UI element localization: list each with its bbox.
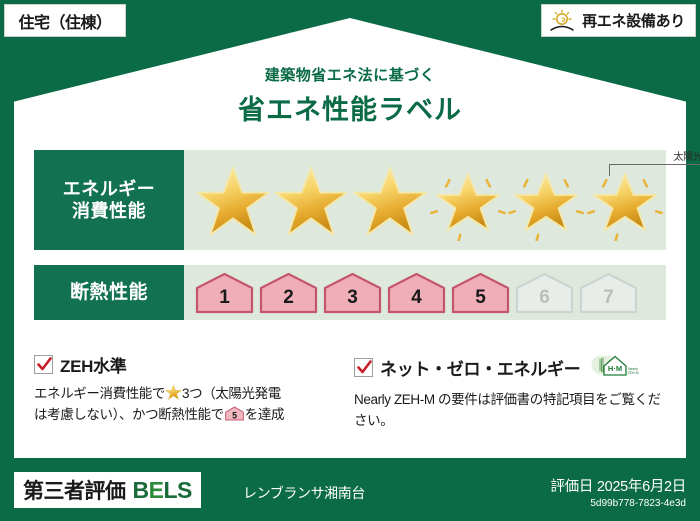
bels-energy-label: 住宅（住棟） 再エネ設備あり 建築物省エネ法に基づく 省エネ性能ラベル — [0, 0, 700, 521]
title-subtitle: 建築物省エネ法に基づく — [0, 64, 700, 85]
svg-text:ZEH-M: ZEH-M — [628, 371, 639, 375]
building-name: レンブランサ湘南台 — [243, 483, 365, 503]
insulation-performance-body: 1234567 — [184, 265, 666, 320]
criteria-section: ZEH水準 エネルギー消費性能で3つ（太陽光発電は考慮しない）、かつ断熱性能で5… — [34, 352, 674, 447]
inline-star-icon — [165, 384, 182, 401]
nze-checkbox[interactable] — [354, 358, 373, 377]
bels-letter-b: B — [133, 477, 149, 503]
check-icon — [356, 359, 373, 376]
renewable-energy-badge: 再エネ設備あり — [541, 4, 696, 37]
svg-text:Nearly: Nearly — [628, 367, 638, 371]
insulation-level-1: 1 — [194, 271, 255, 315]
evaluation-date: 評価日 2025年6月2日 — [550, 475, 686, 496]
star-3 — [351, 157, 427, 243]
document-id: 5d99b778-7823-4e3d — [550, 498, 686, 509]
insulation-level-3: 3 — [322, 271, 383, 315]
renewable-badge-label: 再エネ設備あり — [582, 10, 685, 31]
star-2 — [272, 157, 348, 243]
zeh-criteria-header: ZEH水準 — [34, 352, 342, 377]
star-5-solar — [507, 157, 583, 243]
bels-badge: 第三者評価 BELS — [14, 472, 201, 508]
building-type-label: 住宅（住棟） — [18, 9, 111, 33]
solar-bracket — [609, 164, 700, 176]
inline-house-icon: 5 — [224, 406, 245, 421]
star-4-solar — [429, 157, 505, 243]
energy-label-line1: エネルギー — [63, 178, 156, 201]
insulation-performance-row: 断熱性能 1234567 — [34, 265, 666, 320]
zeh-description: エネルギー消費性能で3つ（太陽光発電は考慮しない）、かつ断熱性能で5を達成 — [34, 384, 342, 426]
insulation-performance-label: 断熱性能 — [34, 265, 184, 320]
insulation-level-2: 2 — [258, 271, 319, 315]
label-footer: 第三者評価 BELS レンブランサ湘南台 評価日 2025年6月2日 5d99b… — [0, 459, 700, 521]
zeh-checkbox[interactable] — [34, 355, 53, 374]
insulation-level-number: 7 — [578, 287, 639, 309]
svg-text:H·M: H·M — [608, 364, 622, 373]
energy-label-line2: 消費性能 — [72, 200, 146, 223]
sun-icon — [548, 9, 576, 33]
check-icon — [36, 356, 53, 373]
insulation-level-number: 4 — [386, 287, 447, 309]
bels-logo: BELS — [133, 477, 192, 504]
nze-description: Nearly ZEH-M の要件は評価書の特記項目をご覧ください。 — [354, 390, 662, 432]
svg-text:5: 5 — [232, 410, 237, 420]
bels-letter-s: S — [177, 477, 192, 503]
insulation-level-4: 4 — [386, 271, 447, 315]
zeh-body-2: 3つ（太陽光発電 — [182, 386, 281, 401]
insulation-level-number: 6 — [514, 287, 575, 309]
zeh-body-4: を達成 — [245, 407, 284, 422]
energy-performance-label: エネルギー 消費性能 — [34, 150, 184, 250]
bels-letter-l: L — [163, 477, 177, 503]
star-rating — [190, 150, 662, 250]
insulation-level-6: 6 — [514, 271, 575, 315]
energy-performance-row: エネルギー 消費性能 太陽光発電(自家消費)分 — [34, 150, 666, 250]
insulation-label-text: 断熱性能 — [70, 281, 148, 305]
nze-title: ネット・ゼロ・エネルギー — [380, 355, 580, 380]
zeh-title: ZEH水準 — [60, 352, 127, 377]
energy-performance-body: 太陽光発電(自家消費)分 — [184, 150, 666, 250]
insulation-level-number: 2 — [258, 287, 319, 309]
insulation-level-5: 5 — [450, 271, 511, 315]
insulation-level-number: 1 — [194, 287, 255, 309]
evaluation-date-block: 評価日 2025年6月2日 5d99b778-7823-4e3d — [550, 475, 686, 509]
insulation-gauge: 1234567 — [194, 265, 639, 320]
bels-letter-e: E — [149, 477, 164, 503]
building-type-tag: 住宅（住棟） — [4, 4, 126, 37]
insulation-level-7: 7 — [578, 271, 639, 315]
insulation-level-number: 5 — [450, 287, 511, 309]
solar-caption: 太陽光発電(自家消費)分 — [609, 148, 700, 163]
nze-criteria-header: ネット・ゼロ・エネルギー H·M Nearly ZEH-M — [354, 352, 662, 383]
star-1 — [194, 157, 270, 243]
insulation-level-number: 3 — [322, 287, 383, 309]
title-main: 省エネ性能ラベル — [0, 88, 700, 127]
zeh-body-1: エネルギー消費性能で — [34, 386, 165, 401]
zeh-criteria-block: ZEH水準 エネルギー消費性能で3つ（太陽光発電は考慮しない）、かつ断熱性能で5… — [34, 352, 354, 447]
zeh-body-3: は考慮しない）、かつ断熱性能で — [34, 407, 224, 422]
zeh-m-logo-icon: H·M Nearly ZEH-M — [587, 352, 641, 383]
label-title: 建築物省エネ法に基づく 省エネ性能ラベル — [0, 64, 700, 127]
third-party-label: 第三者評価 — [23, 475, 126, 505]
nze-criteria-block: ネット・ゼロ・エネルギー H·M Nearly ZEH-M Nearly ZEH… — [354, 352, 674, 447]
